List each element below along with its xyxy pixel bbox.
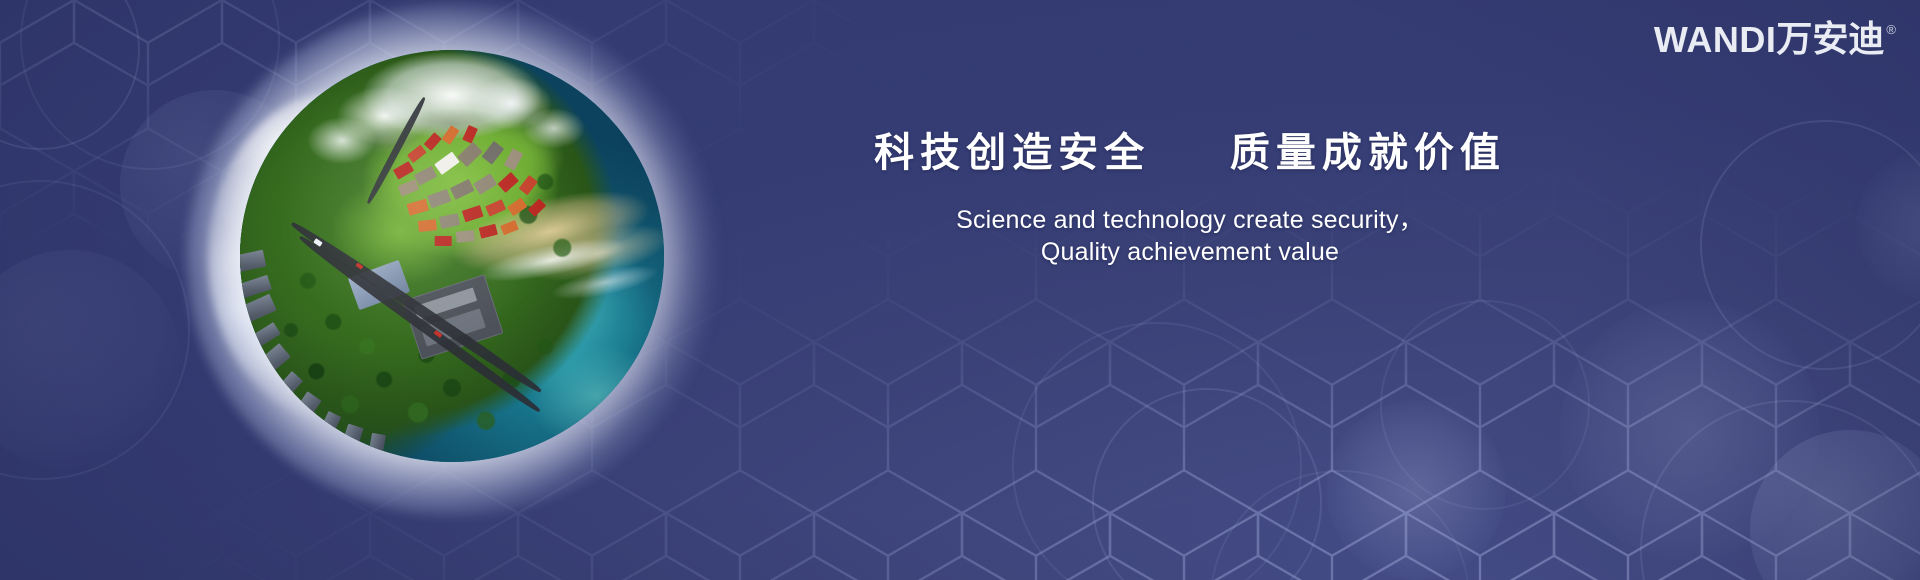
registered-trademark-icon: ®	[1886, 23, 1896, 36]
logo-latin-text: WANDI	[1654, 22, 1777, 58]
subtitle-line-2: Quality achievement value	[760, 236, 1620, 268]
hero-banner: WANDI 万安迪 ® 科技创造安全 质量成就价值 Science and te…	[0, 0, 1920, 580]
page-title: 科技创造安全 质量成就价值	[760, 120, 1620, 178]
tiny-planet-globe	[218, 32, 688, 482]
wandi-logo[interactable]: WANDI 万安迪 ®	[1654, 22, 1896, 58]
subtitle-line-1: Science and technology create security，	[760, 204, 1620, 236]
hero-copy-block: 科技创造安全 质量成就价值 Science and technology cre…	[760, 120, 1620, 268]
globe-sphere	[240, 50, 664, 462]
logo-chinese-text: 万安迪	[1776, 22, 1884, 58]
globe-shading	[240, 50, 664, 462]
